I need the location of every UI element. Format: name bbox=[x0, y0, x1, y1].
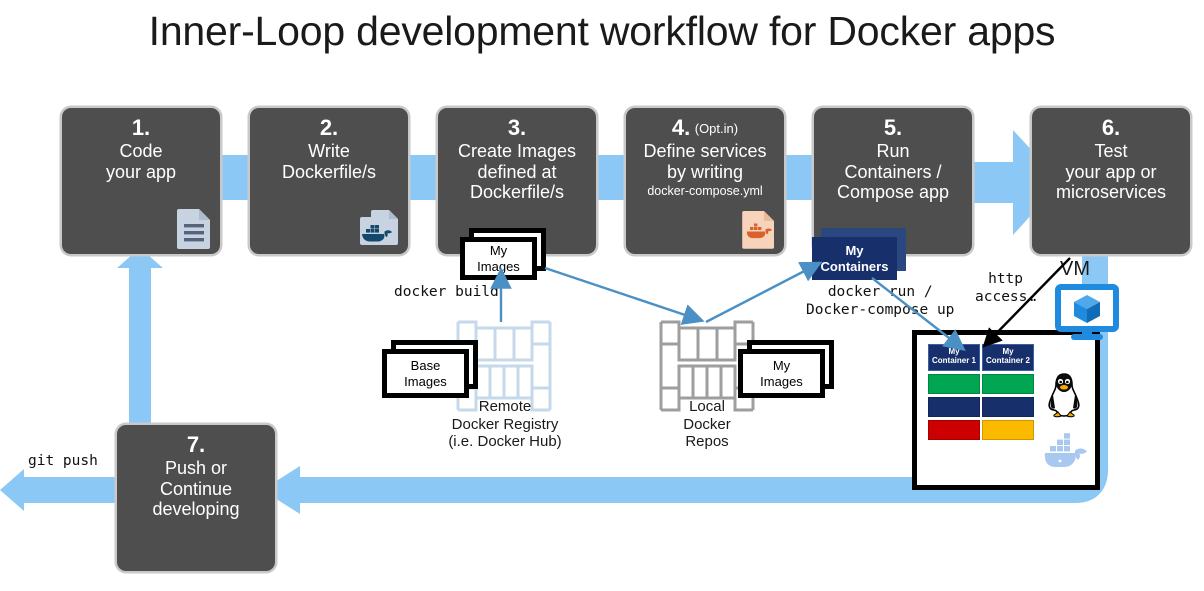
step-box-6[interactable]: 6. Test your app or microservices bbox=[1032, 108, 1190, 254]
step-box-2[interactable]: 2. Write Dockerfile/s bbox=[250, 108, 408, 254]
step-5-text: Run Containers / Compose app bbox=[814, 141, 972, 204]
my-images-card-top: My Images bbox=[460, 228, 546, 280]
vm-caption: VM bbox=[1060, 258, 1090, 281]
step-6-number: 6. bbox=[1102, 116, 1120, 141]
document-icon bbox=[175, 207, 213, 249]
step-5-number-line: 5. bbox=[814, 116, 972, 141]
vm-container-1: My Container 1 bbox=[928, 344, 980, 440]
vm-container-2-layer-3 bbox=[982, 420, 1034, 440]
step-4-optin-label: (Opt.in) bbox=[695, 121, 738, 136]
vm-container-2: My Container 2 bbox=[982, 344, 1034, 440]
step-7-number-line: 7. bbox=[117, 433, 275, 458]
step-6-number-line: 6. bbox=[1032, 116, 1190, 141]
dockerfile-icon bbox=[357, 207, 401, 249]
compose-file-icon bbox=[741, 209, 777, 249]
my-images-card-local: My Images bbox=[738, 340, 834, 398]
step-1-number: 1. bbox=[132, 116, 150, 141]
step-3-number: 3. bbox=[508, 116, 526, 141]
docker-whale-icon bbox=[1040, 430, 1090, 472]
my-images-card-local-front: My Images bbox=[738, 349, 825, 398]
linux-penguin-icon bbox=[1045, 372, 1083, 418]
step-4-subtext: docker-compose.yml bbox=[626, 184, 784, 199]
step-7-content: 7. Push or Continue developing bbox=[117, 425, 275, 571]
step-6-text: Test your app or microservices bbox=[1032, 141, 1190, 204]
my-images-card-top-front: My Images bbox=[460, 237, 537, 280]
diagram-canvas: Inner-Loop development workflow for Dock… bbox=[0, 0, 1204, 591]
my-containers-card: My Containers bbox=[812, 228, 906, 280]
git-push-label: git push bbox=[28, 452, 98, 470]
docker-run-label: docker run / Docker-compose up bbox=[806, 283, 954, 319]
local-repos-caption: Local Docker Repos bbox=[637, 398, 777, 451]
step-4-number-line: 4. (Opt.in) bbox=[626, 116, 784, 141]
step-box-4[interactable]: 4. (Opt.in) Define services by writing d… bbox=[626, 108, 784, 254]
step-3-text: Create Images defined at Dockerfile/s bbox=[438, 141, 596, 204]
step-2-text: Write Dockerfile/s bbox=[250, 141, 408, 183]
step-2-number-line: 2. bbox=[250, 116, 408, 141]
vm-container-2-layer-1 bbox=[982, 374, 1034, 394]
vm-container-2-label: My Container 2 bbox=[982, 344, 1034, 371]
step-box-1[interactable]: 1. Code your app bbox=[62, 108, 220, 254]
step-1-number-line: 1. bbox=[62, 116, 220, 141]
base-images-card-front: Base Images bbox=[382, 349, 469, 398]
step-1-content: 1. Code your app bbox=[62, 108, 220, 254]
step-2-content: 2. Write Dockerfile/s bbox=[250, 108, 408, 254]
my-containers-card-front: My Containers bbox=[812, 237, 897, 280]
vm-monitor-icon bbox=[1055, 284, 1119, 342]
vm-container-1-layer-2 bbox=[928, 397, 980, 417]
page-title: Inner-Loop development workflow for Dock… bbox=[0, 8, 1204, 55]
step-4-content: 4. (Opt.in) Define services by writing d… bbox=[626, 108, 784, 254]
step-4-text: Define services by writing bbox=[626, 141, 784, 183]
base-images-card: Base Images bbox=[382, 340, 478, 398]
step-2-number: 2. bbox=[320, 116, 338, 141]
step-7-number: 7. bbox=[187, 433, 205, 458]
step-7-text: Push or Continue developing bbox=[117, 458, 275, 521]
step-4-number: 4. bbox=[672, 116, 690, 141]
vm-container-1-layer-3 bbox=[928, 420, 980, 440]
http-access-label: http access… bbox=[975, 270, 1036, 306]
docker-build-label: docker build bbox=[394, 283, 499, 301]
step-6-content: 6. Test your app or microservices bbox=[1032, 108, 1190, 254]
vm-container-1-label: My Container 1 bbox=[928, 344, 980, 371]
step-box-7[interactable]: 7. Push or Continue developing bbox=[117, 425, 275, 571]
vm-container-2-layer-2 bbox=[982, 397, 1034, 417]
step-5-number: 5. bbox=[884, 116, 902, 141]
step-3-number-line: 3. bbox=[438, 116, 596, 141]
remote-registry-caption: Remote Docker Registry (i.e. Docker Hub) bbox=[420, 398, 590, 451]
vm-container-1-layer-1 bbox=[928, 374, 980, 394]
step-1-text: Code your app bbox=[62, 141, 220, 183]
